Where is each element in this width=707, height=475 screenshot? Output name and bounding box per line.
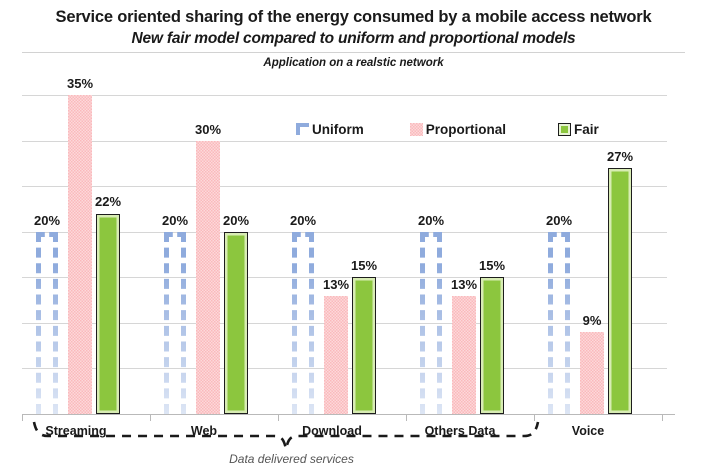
x-axis-line (22, 414, 675, 415)
value-label-fair-voice: 27% (594, 149, 646, 164)
bar-uniform-download (292, 232, 314, 414)
value-label-fair-others-data: 15% (466, 258, 518, 273)
bar-uniform-others-data (420, 232, 442, 414)
bar-fair-streaming (96, 214, 120, 415)
value-label-proportional-streaming: 35% (54, 76, 106, 91)
legend-item-fair[interactable]: Fair (558, 122, 599, 137)
uniform-swatch (296, 123, 309, 135)
data-delivered-brace-icon (30, 420, 540, 452)
value-label-uniform-streaming: 20% (22, 213, 72, 228)
value-label-fair-download: 15% (338, 258, 390, 273)
proportional-swatch (410, 123, 423, 136)
bar-proportional-streaming (68, 95, 92, 414)
axis-tick (662, 414, 663, 421)
bar-uniform-web (164, 232, 186, 414)
value-label-proportional-voice: 9% (566, 313, 618, 328)
bar-fair-voice (608, 168, 632, 414)
value-label-uniform-web: 20% (150, 213, 200, 228)
bar-uniform-streaming (36, 232, 58, 414)
chart-legend: UniformProportionalFair (296, 119, 599, 139)
value-label-proportional-others-data: 13% (438, 277, 490, 292)
bar-fair-web (224, 232, 248, 414)
legend-label-proportional: Proportional (426, 122, 506, 137)
title-block: Service oriented sharing of the energy c… (0, 0, 707, 72)
category-label-voice: Voice (524, 424, 652, 438)
page-title: Service oriented sharing of the energy c… (0, 0, 707, 28)
legend-label-uniform: Uniform (312, 122, 364, 137)
gridline (22, 95, 667, 96)
bar-fair-others-data (480, 277, 504, 414)
bar-proportional-download (324, 296, 348, 414)
value-label-fair-streaming: 22% (82, 194, 134, 209)
plot-area (22, 95, 667, 414)
axis-tick (22, 414, 23, 421)
gridline (22, 141, 667, 142)
bar-proportional-voice (580, 332, 604, 414)
bar-proportional-web (196, 141, 220, 414)
chart-page: Service oriented sharing of the energy c… (0, 0, 707, 475)
fair-swatch (558, 123, 571, 136)
value-label-proportional-web: 30% (182, 122, 234, 137)
value-label-fair-web: 20% (210, 213, 262, 228)
legend-label-fair: Fair (574, 122, 599, 137)
page-subtitle: New fair model compared to uniform and p… (0, 28, 707, 49)
bar-proportional-others-data (452, 296, 476, 414)
title-divider (22, 52, 685, 53)
value-label-uniform-download: 20% (278, 213, 328, 228)
page-note: Application on a realstic network (0, 54, 707, 72)
legend-item-uniform[interactable]: Uniform (296, 122, 364, 137)
bar-fair-download (352, 277, 376, 414)
value-label-uniform-voice: 20% (534, 213, 584, 228)
legend-item-proportional[interactable]: Proportional (410, 122, 506, 137)
brace-annotation-label: Data delivered services (0, 452, 645, 466)
value-label-uniform-others-data: 20% (406, 213, 456, 228)
gridline (22, 186, 667, 187)
value-label-proportional-download: 13% (310, 277, 362, 292)
